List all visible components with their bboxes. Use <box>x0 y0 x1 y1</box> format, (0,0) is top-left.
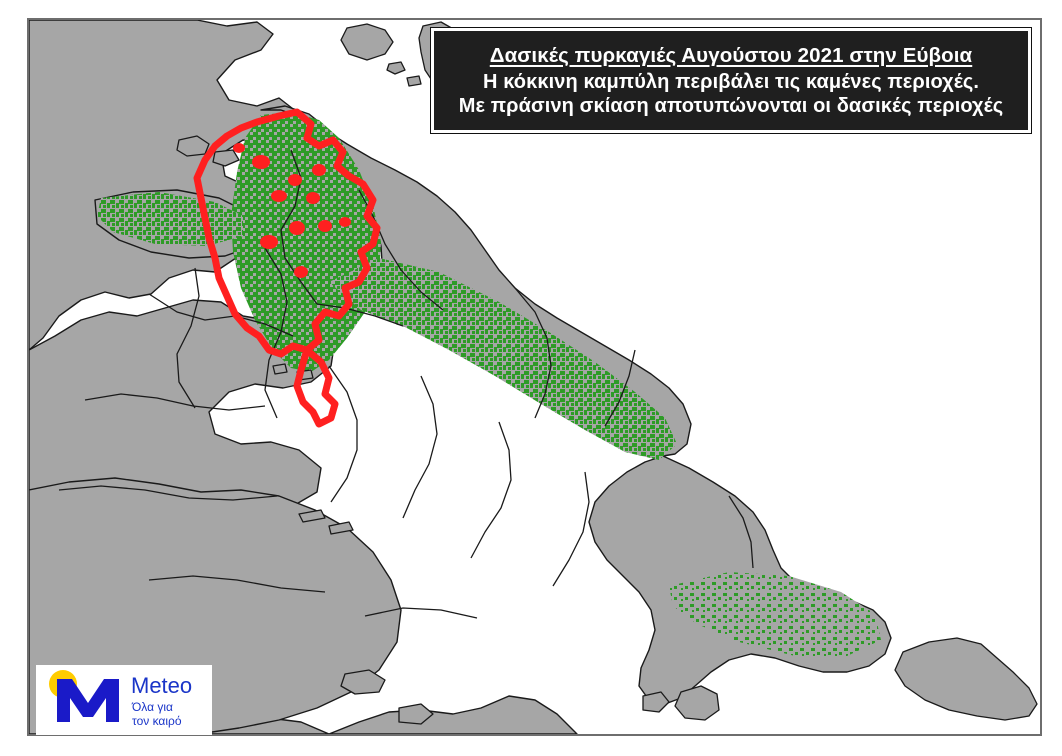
logo-wordmark: Meteo <box>131 673 192 698</box>
meteo-logo-graphic: Meteo Όλα για τον καιρό <box>36 665 212 735</box>
burn-spot <box>288 174 302 186</box>
meteo-logo: Meteo Όλα για τον καιρό <box>36 665 212 735</box>
islet-e <box>273 364 287 374</box>
burn-spot <box>252 155 270 169</box>
burn-spot <box>318 220 332 232</box>
burn-spot <box>294 266 308 278</box>
burn-spot <box>271 190 287 202</box>
map-figure: Δασικές πυρκαγιές Αυγούστου 2021 στην Εύ… <box>0 0 1062 756</box>
island-skiathos <box>341 24 393 60</box>
burn-spot <box>312 164 326 176</box>
burn-spot <box>339 217 351 227</box>
map-legend-red-description: Η κόκκινη καμπύλη περιβάλει τις καμένες … <box>483 70 979 94</box>
map-legend-green-description: Με πράσινη σκίαση αποτυπώνονται οι δασικ… <box>459 94 1004 118</box>
map-title-heading: Δασικές πυρκαγιές Αυγούστου 2021 στην Εύ… <box>490 43 972 68</box>
burn-spot <box>289 221 305 235</box>
burn-spot <box>306 192 320 204</box>
burn-spot <box>260 235 278 249</box>
burn-spot <box>233 143 245 153</box>
map-title-box: Δασικές πυρκαγιές Αυγούστου 2021 στην Εύ… <box>431 28 1031 133</box>
logo-tagline-line1: Όλα για <box>131 700 173 714</box>
islet-b <box>407 76 421 86</box>
logo-tagline-line2: τον καιρό <box>132 714 182 728</box>
